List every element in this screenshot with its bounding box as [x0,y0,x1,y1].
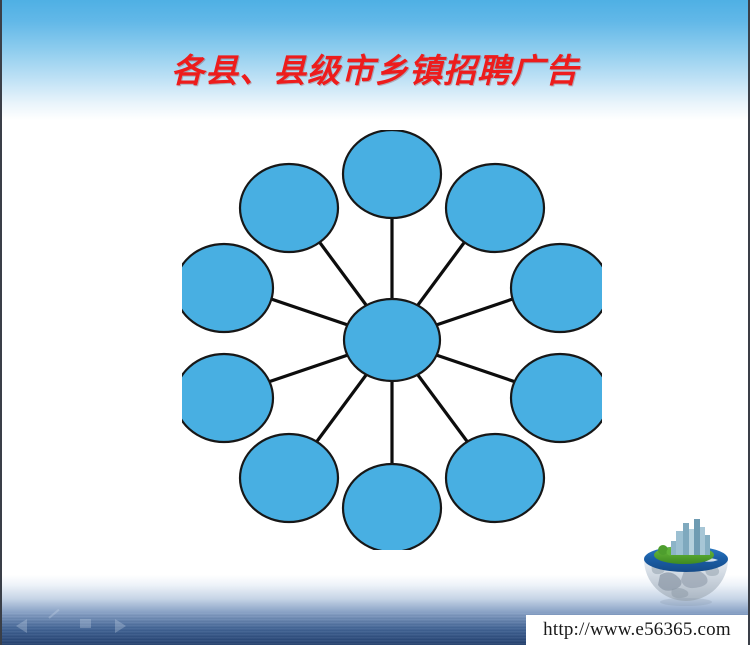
satellite-node-7[interactable] [240,434,338,522]
pen-icon[interactable] [47,616,64,631]
center-node[interactable] [344,299,440,381]
tree-icon [658,545,668,555]
slide: 各县、县级市乡镇招聘广告 [0,0,750,645]
watermark-url-text: http://www.e56365.com [543,619,731,641]
watermark-url-box: http://www.e56365.com [526,615,748,645]
radial-diagram [182,130,602,550]
satellite-node-3[interactable] [511,244,602,332]
globe-shadow [660,598,712,606]
satellite-node-6[interactable] [343,464,441,550]
page-title: 各县、县级市乡镇招聘广告 [2,44,748,92]
arrow-left-icon[interactable] [16,616,33,631]
satellite-node-1[interactable] [343,130,441,218]
slideshow-controls[interactable] [16,616,126,631]
globe-city-icon [638,515,734,607]
satellite-node-8[interactable] [182,354,273,442]
city-skyline-icon [671,519,710,555]
satellite-node-9[interactable] [182,244,273,332]
satellite-node-4[interactable] [511,354,602,442]
satellite-node-5[interactable] [446,434,544,522]
satellite-node-10[interactable] [240,164,338,252]
satellite-node-2[interactable] [446,164,544,252]
arrow-right-icon[interactable] [109,616,126,631]
square-icon[interactable] [78,616,95,631]
